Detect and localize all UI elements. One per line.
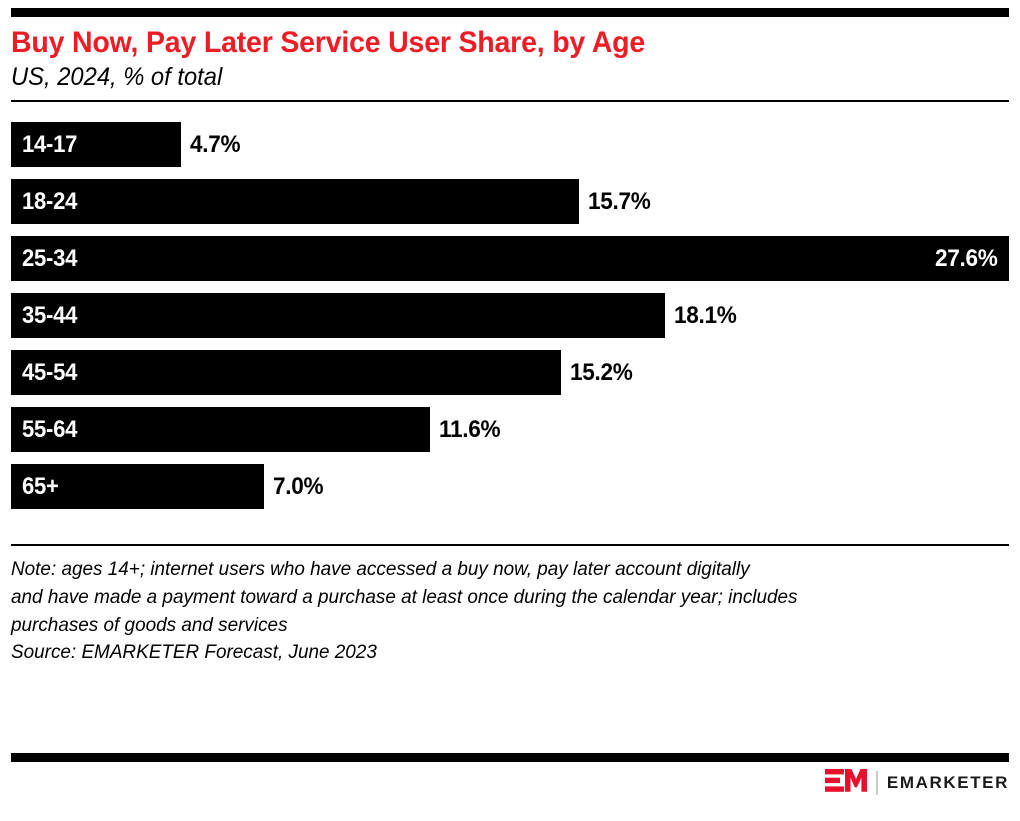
bar-row: 45-5415.2% bbox=[11, 350, 1009, 395]
bar-value-label: 11.6% bbox=[439, 416, 500, 444]
bar: 25-3427.6% bbox=[11, 236, 1009, 281]
emarketer-logo: EMARKETER bbox=[825, 768, 1009, 798]
bar-category-label: 35-44 bbox=[22, 302, 77, 330]
chart-title: Buy Now, Pay Later Service User Share, b… bbox=[11, 27, 959, 59]
top-rule bbox=[11, 8, 1009, 17]
note-line: Source: EMARKETER Forecast, June 2023 bbox=[11, 639, 979, 667]
bar: 65+ bbox=[11, 464, 264, 509]
bar-value-label: 15.2% bbox=[570, 359, 633, 387]
bar: 55-64 bbox=[11, 407, 430, 452]
bar-row: 65+7.0% bbox=[11, 464, 1009, 509]
bar-category-label: 25-34 bbox=[22, 245, 77, 273]
note-line: purchases of goods and services bbox=[11, 612, 979, 640]
bar-value-label: 7.0% bbox=[273, 473, 323, 501]
bar-category-label: 14-17 bbox=[22, 131, 77, 159]
header-divider bbox=[11, 100, 1009, 102]
bar-category-label: 65+ bbox=[22, 473, 59, 501]
emarketer-wordmark: EMARKETER bbox=[887, 773, 1009, 793]
bar-row: 25-3427.6% bbox=[11, 236, 1009, 281]
bar-category-label: 45-54 bbox=[22, 359, 77, 387]
bar-row: 14-174.7% bbox=[11, 122, 1009, 167]
note-divider bbox=[11, 544, 1009, 546]
bar-value-label: 15.7% bbox=[588, 188, 651, 216]
bar: 18-24 bbox=[11, 179, 579, 224]
bar-row: 18-2415.7% bbox=[11, 179, 1009, 224]
logo-divider bbox=[876, 771, 878, 795]
bar-category-label: 55-64 bbox=[22, 416, 77, 444]
bar-value-label: 4.7% bbox=[190, 131, 240, 159]
em-logo-icon bbox=[825, 768, 867, 798]
bar-value-label: 18.1% bbox=[674, 302, 737, 330]
bar-category-label: 18-24 bbox=[22, 188, 77, 216]
bar: 14-17 bbox=[11, 122, 181, 167]
bar: 45-54 bbox=[11, 350, 561, 395]
bottom-rule bbox=[11, 753, 1009, 762]
bar-row: 55-6411.6% bbox=[11, 407, 1009, 452]
chart-card: Buy Now, Pay Later Service User Share, b… bbox=[0, 8, 1020, 821]
footer-notes: Note: ages 14+; internet users who have … bbox=[11, 556, 1009, 667]
note-line: Note: ages 14+; internet users who have … bbox=[11, 556, 979, 584]
bar-value-label: 27.6% bbox=[935, 245, 998, 273]
bar: 35-44 bbox=[11, 293, 665, 338]
note-line: and have made a payment toward a purchas… bbox=[11, 584, 979, 612]
bar-row: 35-4418.1% bbox=[11, 293, 1009, 338]
bar-chart-plot: 14-174.7%18-2415.7%25-3427.6%35-4418.1%4… bbox=[11, 122, 1009, 522]
chart-subtitle: US, 2024, % of total bbox=[11, 63, 959, 91]
